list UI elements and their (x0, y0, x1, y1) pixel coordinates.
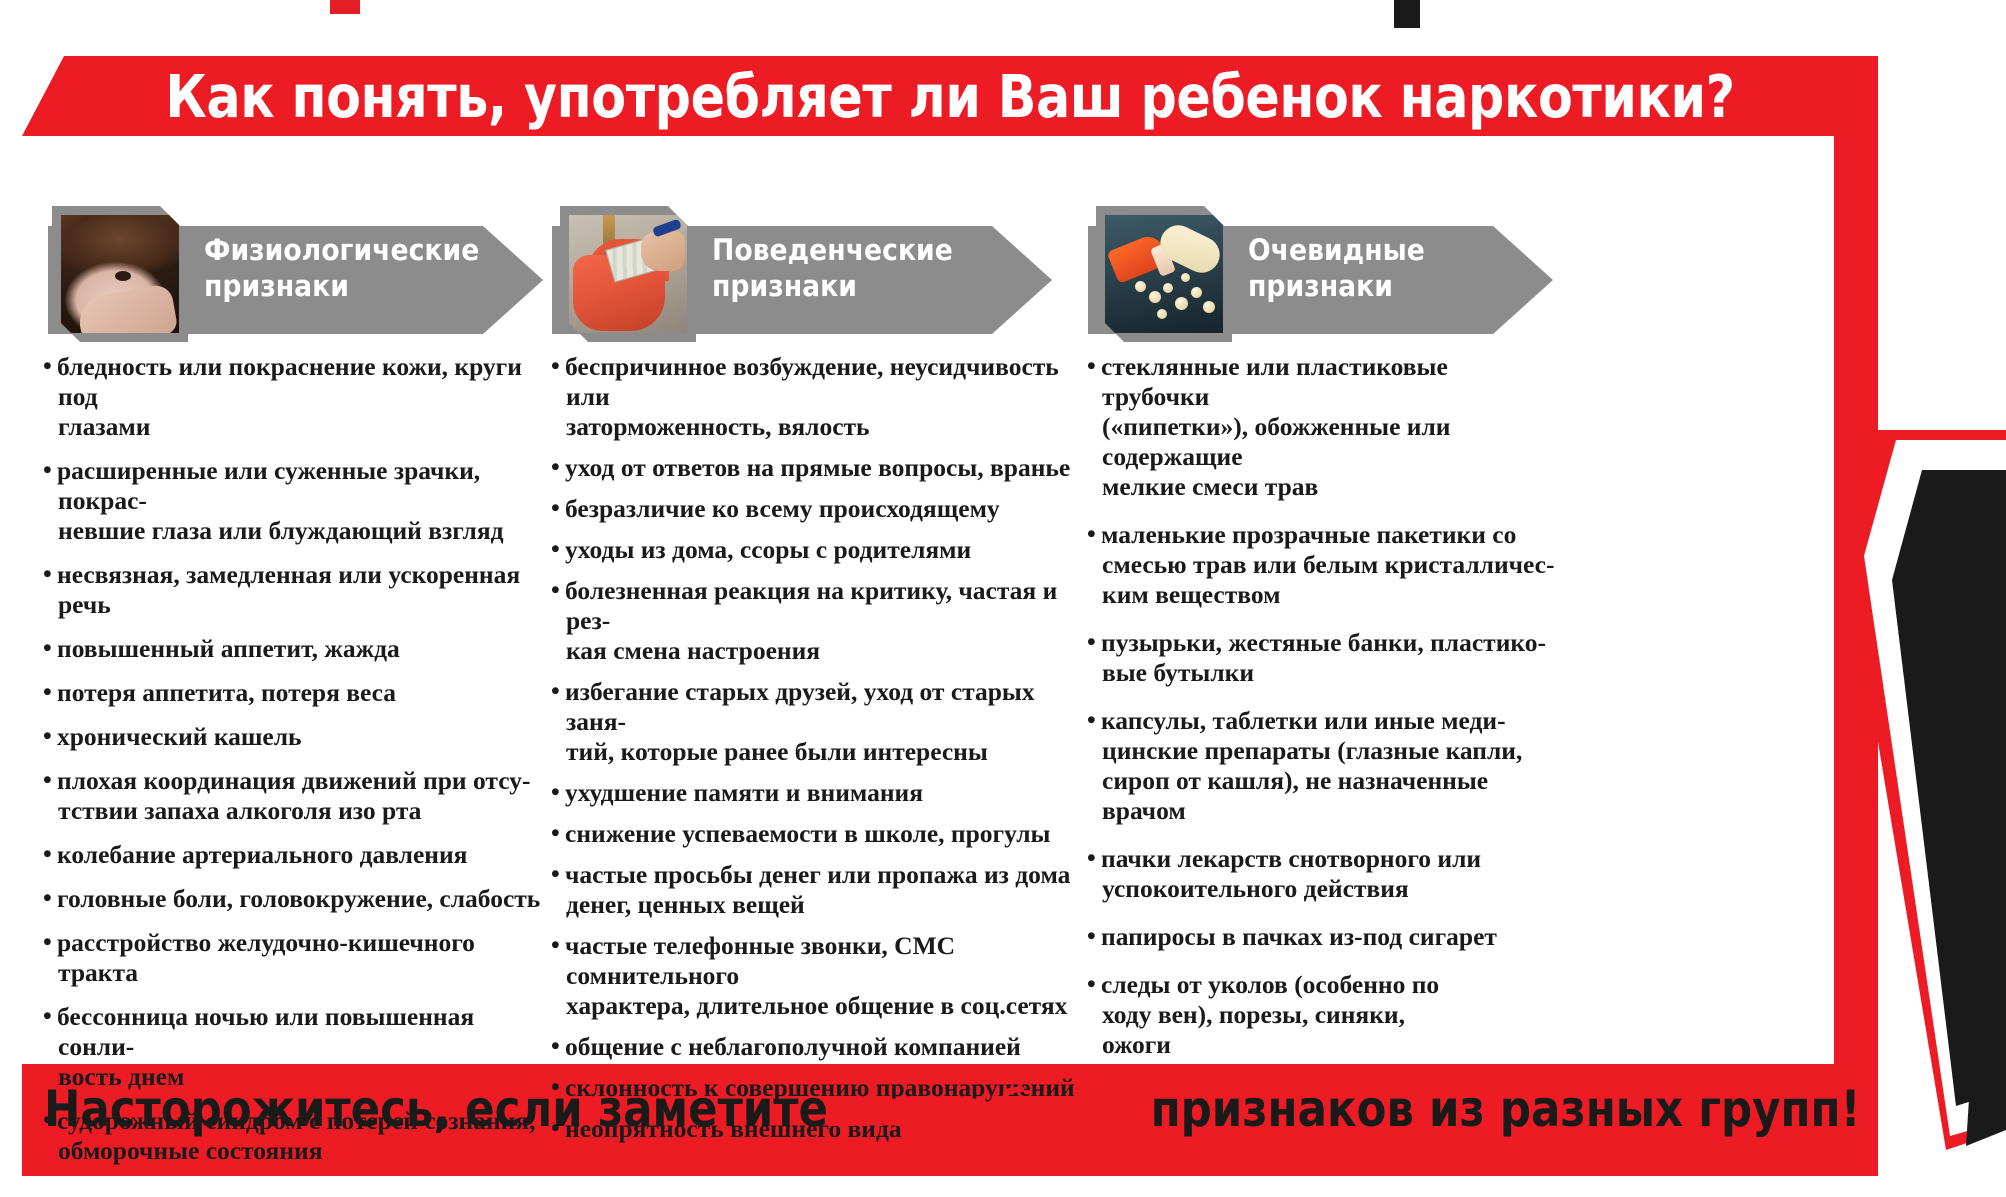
column-obvious: Очевидные признаки стеклянные или пласти… (1088, 200, 1568, 340)
list-item: уходы из дома, ссоры с родителями (552, 535, 1077, 565)
list-item: капсулы, таблетки или иные меди- цинские… (1088, 706, 1558, 826)
list-item: беспричинное возбуждение, неусидчивость … (552, 352, 1077, 442)
list-item: пачки лекарств снотворного или успокоите… (1088, 844, 1558, 904)
list-item: папиросы в пачках из-под сигарет (1088, 922, 1558, 952)
pellet (1163, 283, 1173, 293)
slogan-banner: Насторожитесь, если заметите пять и боле… (44, 1078, 1601, 1140)
handbag-money-photo (560, 206, 696, 342)
list-item: головные боли, головокружение, слабость (44, 884, 544, 914)
pellet (1191, 287, 1202, 298)
slogan-part1: Насторожитесь, если заметите (44, 1080, 828, 1138)
registration-mark-red (330, 0, 360, 14)
girl-artwork (61, 215, 179, 333)
pellet (1175, 297, 1188, 310)
slogan-part2: признаков из разных групп! (1151, 1080, 1861, 1138)
column-header: Поведенческие признаки (552, 200, 1082, 340)
pills-bottle-photo (1096, 206, 1232, 342)
pellet (1203, 301, 1215, 313)
tired-girl-photo (52, 206, 188, 342)
list-item: расстройство желудочно-кишечного тракта (44, 928, 544, 988)
photo-inner (61, 215, 179, 333)
pellet (1157, 309, 1167, 319)
photo-inner (569, 215, 687, 333)
registration-mark-black (1394, 0, 1420, 28)
signs-list: стеклянные или пластиковые трубочки («пи… (1088, 352, 1558, 1078)
slogan-highlight: пять и более (828, 1080, 1151, 1138)
list-item: общение с неблагополучной компанией (552, 1032, 1077, 1062)
photo-inner (1105, 215, 1223, 333)
list-item: стеклянные или пластиковые трубочки («пи… (1088, 352, 1558, 502)
handbag-artwork (569, 215, 687, 333)
pellet (1181, 273, 1190, 282)
column-header: Очевидные признаки (1088, 200, 1568, 340)
list-item: следы от уколов (особенно по ходу вен), … (1088, 970, 1558, 1060)
list-item: пузырьки, жестяные банки, пластико- вые … (1088, 628, 1558, 688)
list-item: повышенный аппетит, жажда (44, 634, 544, 664)
list-item: частые телефонные звонки, СМС сомнительн… (552, 931, 1077, 1021)
list-item: маленькие прозрачные пакетики со смесью … (1088, 520, 1558, 610)
page-title: Как понять, употребляет ли Ваш ребенок н… (152, 56, 1748, 136)
list-item: бледность или покраснение кожи, круги по… (44, 352, 544, 442)
column-heading-label: Поведенческие признаки (712, 232, 953, 304)
list-item: хронический кашель (44, 722, 544, 752)
column-physiological: Физиологические признаки бледность или п… (44, 200, 549, 340)
list-item: частые просьбы денег или пропажа из дома… (552, 860, 1077, 920)
list-item: безразличие ко всему происходящему (552, 494, 1077, 524)
column-heading-label: Очевидные признаки (1248, 232, 1425, 304)
column-heading-label: Физиологические признаки (204, 232, 479, 304)
signs-list: бледность или покраснение кожи, круги по… (44, 352, 544, 1180)
signs-list: беспричинное возбуждение, неусидчивость … (552, 352, 1077, 1155)
list-item: плохая координация движений при отсу- тс… (44, 766, 544, 826)
column-header: Физиологические признаки (44, 200, 549, 340)
eye-detail (115, 271, 131, 281)
list-item: колебание артериального давления (44, 840, 544, 870)
list-item: снижение успеваемости в школе, прогулы (552, 819, 1077, 849)
list-item: болезненная реакция на критику, частая и… (552, 576, 1077, 666)
list-item: несвязная, замедленная или ускоренная ре… (44, 560, 544, 620)
column-behavioral: Поведенческие признаки беспричинное возб… (552, 200, 1082, 340)
arm-detail (75, 283, 178, 333)
sign-columns: Физиологические признаки бледность или п… (44, 200, 1844, 1070)
list-item: потеря аппетита, потеря веса (44, 678, 544, 708)
banner-notch (22, 56, 64, 136)
list-item: ухудшение памяти и внимания (552, 778, 1077, 808)
pellet (1149, 291, 1161, 303)
pills-artwork (1105, 215, 1223, 333)
list-item: уход от ответов на прямые вопросы, врань… (552, 453, 1077, 483)
title-banner: Как понять, употребляет ли Ваш ребенок н… (22, 56, 1878, 136)
hand-detail (641, 231, 685, 271)
list-item: расширенные или суженные зрачки, покрас-… (44, 456, 544, 546)
pellet (1135, 281, 1146, 292)
list-item: избегание старых друзей, уход от старых … (552, 677, 1077, 767)
